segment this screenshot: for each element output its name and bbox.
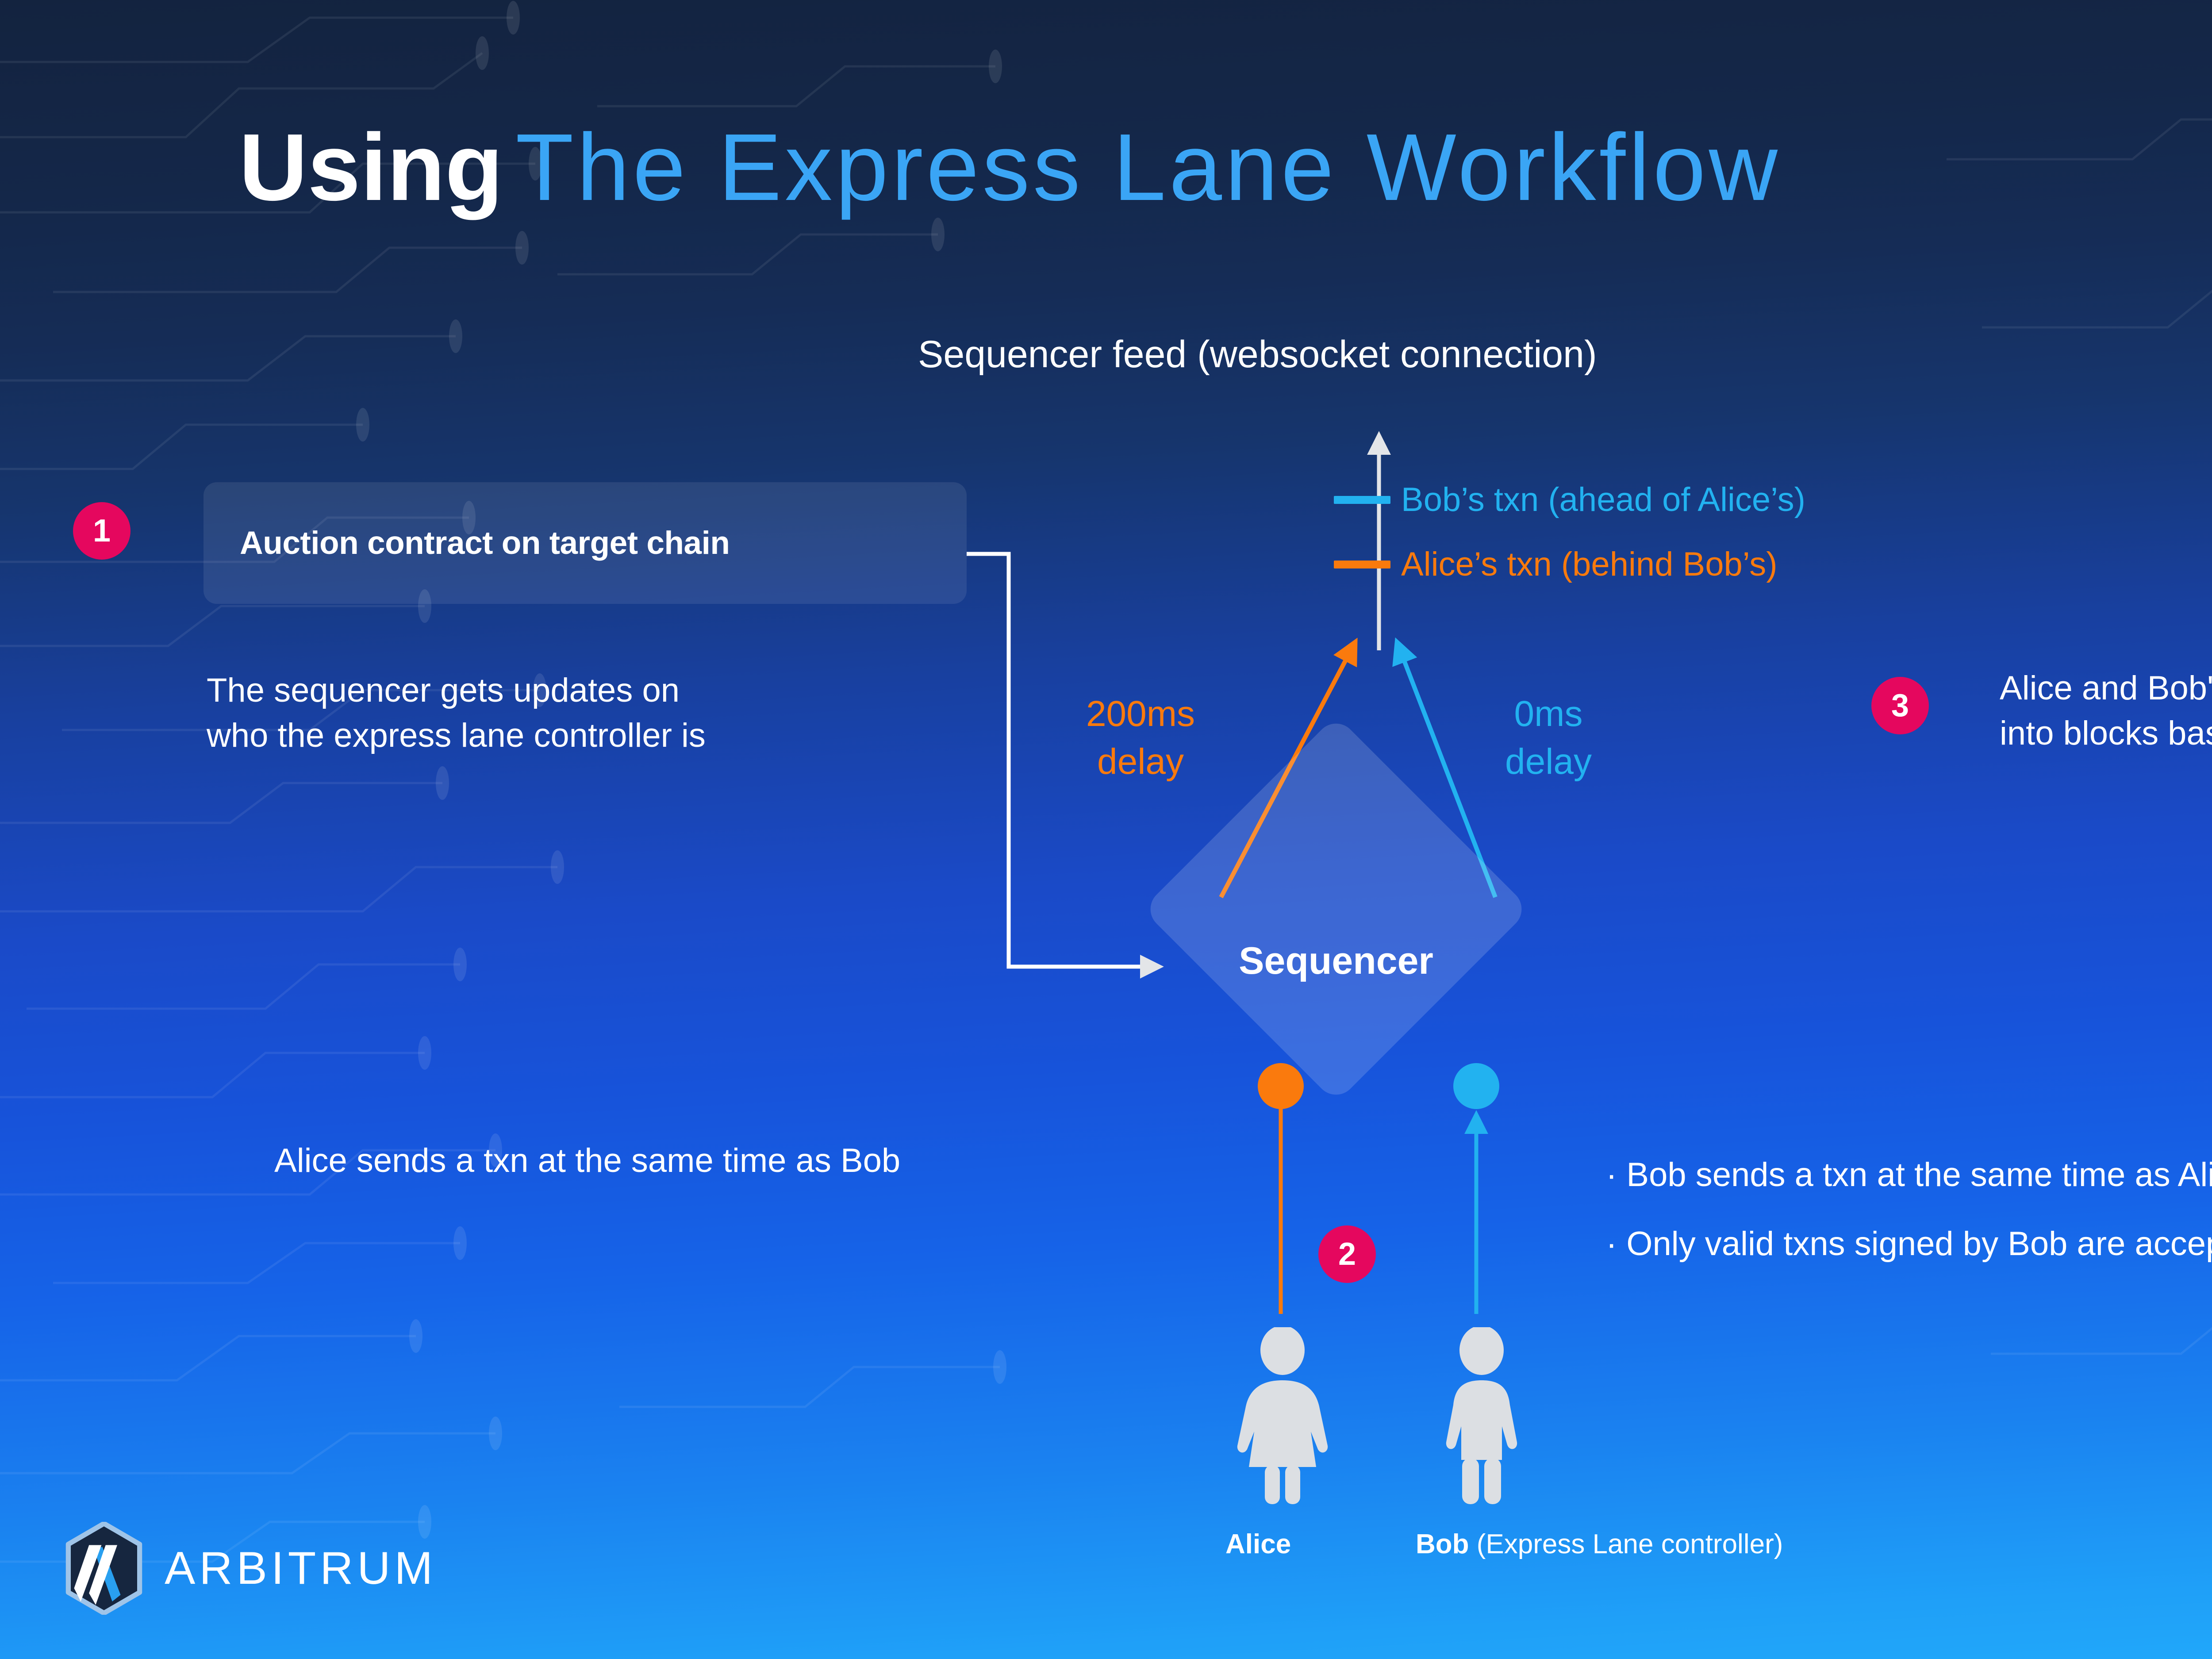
bob-delay-label: 0ms delay <box>1482 690 1615 786</box>
legend-label-alice-txn: Alice’s txn (behind Bob’s) <box>1401 545 1778 584</box>
bob-submit-note-1: · Bob sends a txn at the same time as Al… <box>1606 1141 2212 1210</box>
alice-delay-label: 200ms delay <box>1061 690 1220 786</box>
auction-contract-card: Auction contract on target chain <box>204 482 967 604</box>
step-1-description-line-2: who the express lane controller is <box>207 713 706 758</box>
alice-figure-icon <box>1210 1327 1356 1504</box>
step-1-description-line-1: The sequencer gets updates on <box>207 668 706 713</box>
sequencer-node-label: Sequencer <box>1199 939 1473 983</box>
bob-origin-dot <box>1453 1063 1499 1109</box>
alice-delay-unit: delay <box>1061 738 1220 786</box>
bob-name-label: Bob (Express Lane controller) <box>1416 1528 1783 1560</box>
bob-role-text: (Express Lane controller) <box>1469 1529 1783 1559</box>
bob-name-text: Bob <box>1416 1529 1469 1559</box>
step-3-description: Alice and Bob's txns get ordered into bl… <box>2000 666 2212 756</box>
bob-submit-notes: · Bob sends a txn at the same time as Al… <box>1606 1141 2212 1279</box>
arbitrum-logo: ARBITRUM <box>62 1522 437 1615</box>
legend-item-alice-txn: Alice’s txn (behind Bob’s) <box>1334 545 1778 584</box>
bob-delay-unit: delay <box>1482 738 1615 786</box>
step-badge-2: 2 <box>1318 1225 1376 1283</box>
alice-submit-note: Alice sends a txn at the same time as Bo… <box>274 1141 900 1180</box>
auction-contract-label: Auction contract on target chain <box>240 525 730 561</box>
legend-item-bob-txn: Bob’s txn (ahead of Alice’s) <box>1334 480 1805 519</box>
bob-submit-note-2: · Only valid txns signed by Bob are acce… <box>1606 1210 2212 1279</box>
step-badge-3: 3 <box>1871 677 1929 734</box>
legend-swatch-cyan <box>1334 496 1390 504</box>
legend-label-bob-txn: Bob’s txn (ahead of Alice’s) <box>1401 480 1805 519</box>
connector-arrows-layer <box>0 0 2212 1659</box>
circuit-background-pattern <box>0 0 2212 1659</box>
alice-name-label: Alice <box>1225 1528 1291 1560</box>
sequencer-feed-label: Sequencer feed (websocket connection) <box>918 333 1597 376</box>
bob-figure-icon <box>1409 1327 1555 1504</box>
alice-origin-dot <box>1258 1063 1304 1109</box>
bob-delay-value: 0ms <box>1482 690 1615 738</box>
infographic-canvas: UsingThe Express Lane Workflow Sequencer… <box>0 0 2212 1659</box>
step-badge-1: 1 <box>73 502 131 560</box>
legend-swatch-orange <box>1334 561 1390 568</box>
step-1-description: The sequencer gets updates on who the ex… <box>207 668 706 758</box>
arbitrum-mark-icon <box>62 1522 146 1615</box>
step-3-description-line-2: into blocks based on timestamp <box>2000 711 2212 756</box>
page-title: UsingThe Express Lane Workflow <box>239 119 1781 215</box>
title-rest: The Express Lane Workflow <box>515 114 1781 220</box>
arbitrum-wordmark: ARBITRUM <box>165 1542 437 1595</box>
alice-delay-value: 200ms <box>1061 690 1220 738</box>
title-emphasis: Using <box>239 114 503 220</box>
step-3-description-line-1: Alice and Bob's txns get ordered <box>2000 666 2212 711</box>
